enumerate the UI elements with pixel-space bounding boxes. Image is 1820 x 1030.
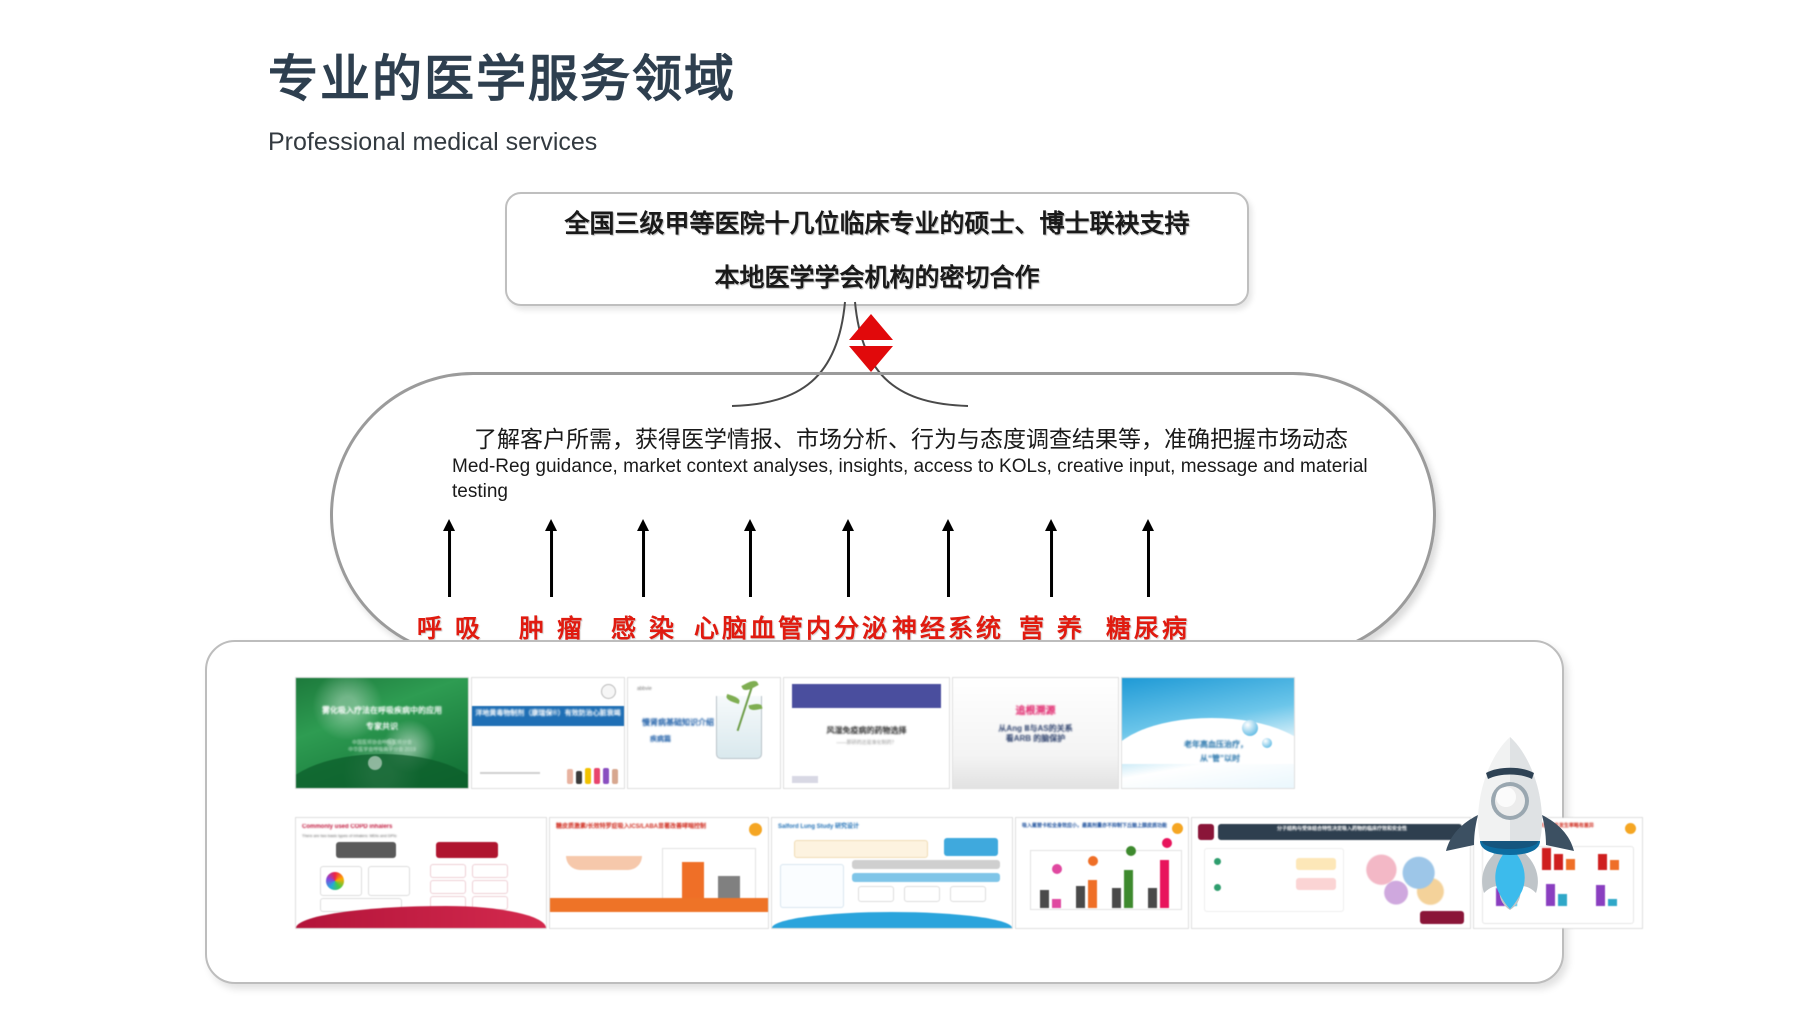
thumb-title: Salford Lung Study 研究设计 bbox=[778, 823, 859, 831]
thumb-subtitle: 专家共识 bbox=[296, 722, 468, 732]
thumb-subtitle: ——那研药还是准化制药？ bbox=[784, 740, 949, 747]
thumb-title: 慢肾病基础知识介绍 bbox=[642, 718, 714, 728]
therapeutic-area-item[interactable]: 呼 吸 bbox=[417, 519, 483, 645]
therapeutic-area-item[interactable]: 肿 瘤 bbox=[519, 519, 585, 645]
up-arrow-icon bbox=[637, 519, 650, 597]
thumb-title: 雾化吸入疗法在呼吸疾病中的应用 bbox=[296, 706, 468, 716]
thumb-ang-ii-as-arb[interactable]: 追根溯源 从Ang Ⅱ与AS的关系 看ARB 的脑保护 bbox=[953, 678, 1118, 788]
thumb-title: 风湿免疫病的药物选择 bbox=[784, 726, 949, 736]
thumb-kidney-basics[interactable]: abbvie 慢肾病基础知识介绍 疾病篇 bbox=[628, 678, 780, 788]
thumb-title: Commonly used COPD inhalers bbox=[302, 823, 392, 831]
slide-canvas: 专业的医学服务领域 Professional medical services … bbox=[0, 0, 1820, 1030]
insights-text-en: Med-Reg guidance, market context analyse… bbox=[452, 454, 1402, 504]
therapeutic-area-item[interactable]: 神经系统 bbox=[892, 519, 1004, 645]
gallery-row-top: 雾化吸入疗法在呼吸疾病中的应用 专家共识 中国医师协会呼吸医师分会中华医学会呼吸… bbox=[296, 678, 1294, 788]
up-arrow-icon bbox=[1045, 519, 1058, 597]
thumb-brand: abbvie bbox=[637, 686, 652, 692]
thumb-digitalis-preparation[interactable]: 洋地黄毒物制剂（康瑞保®）有效防治心脏衰竭 bbox=[472, 678, 624, 788]
up-arrow-icon bbox=[743, 519, 756, 597]
headline-box: 全国三级甲等医院十几位临床专业的硕士、博士联袂支持 本地医学学会机构的密切合作 bbox=[505, 192, 1249, 306]
headline-line-1: 全国三级甲等医院十几位临床专业的硕士、博士联袂支持 bbox=[564, 204, 1189, 240]
thumb-elderly-hypertension[interactable]: 老年高血压治疗， 从“管”以时 bbox=[1122, 678, 1294, 788]
thumb-molecular-structure[interactable]: 分子结构与受体结合特性决定吸入药物的临床疗效和安全性 bbox=[1192, 818, 1470, 928]
page-subtitle: Professional medical services bbox=[268, 128, 597, 157]
up-arrow-icon bbox=[1141, 519, 1154, 597]
thumb-title: 洋地黄毒物制剂（康瑞保®）有效防治心脏衰竭 bbox=[472, 710, 624, 719]
therapeutic-area-list: 呼 吸 肿 瘤 感 染 心脑血管 内分泌 神经系统 营 养 糖尿病 bbox=[330, 510, 1430, 645]
thumb-subtitle: 从“管”以时 bbox=[1200, 754, 1240, 764]
thumb-subtitle: There are two basic types of inhalers: M… bbox=[302, 833, 396, 838]
up-down-arrow-diamond-icon bbox=[849, 314, 893, 372]
thumb-title: 分子结构与受体结合特性决定吸入药物的临床疗效和安全性 bbox=[1226, 826, 1458, 833]
up-arrow-icon bbox=[841, 519, 854, 597]
thumb-nebulized-inhalation[interactable]: 雾化吸入疗法在呼吸疾病中的应用 专家共识 中国医师协会呼吸医师分会中华医学会呼吸… bbox=[296, 678, 468, 788]
thumb-subtitle: 从Ang Ⅱ与AS的关系 看ARB 的脑保护 bbox=[953, 724, 1118, 744]
thumb-title: 糖皮质激素/长效特罗症吸入ICS/LABA显著改善哮喘控制 bbox=[556, 823, 746, 831]
thumb-rheumatic-immune-drugs[interactable]: 风湿免疫病的药物选择 ——那研药还是准化制药？ bbox=[784, 678, 949, 788]
thumb-systemic-effect[interactable]: 吸入氟替卡松全身效应小，最高剂量亦不抑制下丘脑上腺皮质功能 bbox=[1016, 818, 1188, 928]
thumb-subtitle: 疾病篇 bbox=[650, 736, 671, 745]
thumb-salford-lung-study[interactable]: Salford Lung Study 研究设计 bbox=[772, 818, 1012, 928]
insights-text-cn: 了解客户所需，获得医学情报、市场分析、行为与态度调查结果等，准确把握市场动态 bbox=[452, 424, 1392, 454]
thumb-title: 追根溯源 bbox=[953, 706, 1118, 719]
thumb-title: 吸入氟替卡松全身效应小，最高剂量亦不抑制下丘脑上腺皮质功能 bbox=[1022, 823, 1168, 830]
page-title: 专业的医学服务领域 bbox=[268, 52, 736, 107]
thumb-ics-laba-control[interactable]: 糖皮质激素/长效特罗症吸入ICS/LABA显著改善哮喘控制 bbox=[550, 818, 768, 928]
rocket-icon bbox=[1440, 735, 1580, 910]
up-arrow-icon bbox=[443, 519, 456, 597]
therapeutic-area-item[interactable]: 感 染 bbox=[611, 519, 677, 645]
thumb-title: 老年高血压治疗， bbox=[1184, 740, 1248, 750]
up-arrow-icon bbox=[545, 519, 558, 597]
therapeutic-area-item[interactable]: 营 养 bbox=[1019, 519, 1085, 645]
therapeutic-area-item[interactable]: 内分泌 bbox=[806, 519, 890, 645]
headline-line-2: 本地医学学会机构的密切合作 bbox=[714, 258, 1039, 294]
thumb-copd-inhalers[interactable]: Commonly used COPD inhalers There are tw… bbox=[296, 818, 546, 928]
therapeutic-area-item[interactable]: 糖尿病 bbox=[1106, 519, 1190, 645]
up-arrow-icon bbox=[941, 519, 954, 597]
therapeutic-area-item[interactable]: 心脑血管 bbox=[694, 519, 806, 645]
